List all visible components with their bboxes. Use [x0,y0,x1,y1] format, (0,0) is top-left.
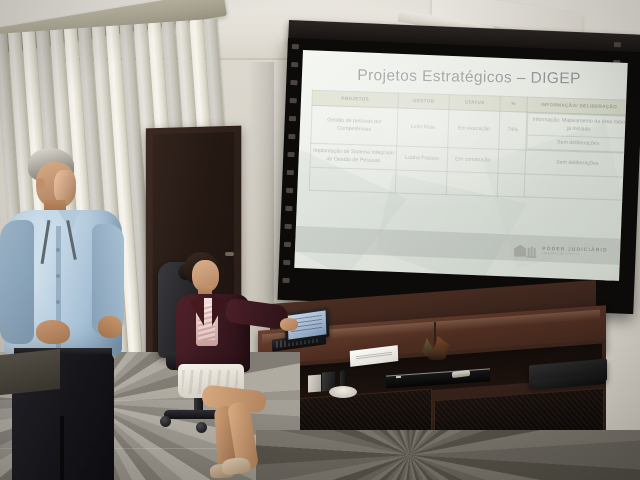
standing-presenter [0,148,140,480]
screen-tensioner-tab [285,224,292,229]
screen-tensioner-tab [614,42,621,47]
screen-tensioner-tab [287,152,294,157]
logo-subtitle: TRIBUNAL DE JUSTIÇA [542,253,608,257]
poder-judiciario-logo: PODER JUDICIÁRIO TRIBUNAL DE JUSTIÇA [513,243,608,259]
screen-tensioner-tab [286,188,293,193]
screen-tensioner-tab [291,62,298,67]
floor-right [256,430,640,480]
cell-status: Em execução [448,110,500,150]
shirt-button [56,248,60,252]
cell-projeto: Gestão de pessoas por Competências [311,105,398,146]
left-hand [36,320,70,344]
cell-informacao: Informação: Mapeamento da área meio já i… [526,112,628,153]
col-header-percent: % [500,96,527,112]
slide-title: Projetos Estratégicos – DIGEP [324,66,614,89]
cell-status: Em construção [447,148,499,173]
col-header-status: STATUS [449,95,500,112]
cell-percent: 74% [499,111,527,150]
seated-attendee [170,252,290,462]
screen-tensioner-tab [287,170,294,175]
shirt-button [56,300,60,304]
screen-tensioner-tab [290,80,297,85]
cell-gestor: Leila Maia [397,108,449,148]
cell-informacao: Sem deliberações [525,150,628,177]
left-arm [0,220,34,344]
microphone-base [329,386,357,398]
cell-projeto: Implantação de Sistema Integrado de Gest… [310,144,397,171]
screen-tensioner-tab [285,206,292,211]
cell-gestor: Luana Passos [396,146,448,171]
projects-table: PROJETOS GESTOR STATUS % INFORMAÇÃO/ DEL… [309,90,628,201]
face [54,170,76,204]
info-line: Informação: Mapeamento da área meio já i… [527,113,628,139]
col-header-gestor: GESTOR [398,93,449,110]
shirt-button [56,274,60,278]
projected-slide[interactable]: Projetos Estratégicos – DIGEP PROJETOS G… [294,50,627,281]
screen-tensioner-tab [289,116,296,121]
courthouse-columns-icon [513,243,539,258]
right-hand [98,316,122,338]
screen-tensioner-tab [288,134,295,139]
screen-tensioner-tab [292,44,299,49]
white-device-box [308,375,321,393]
right-hand [280,318,298,331]
decorative-ornament [418,322,452,360]
cell-percent [498,150,526,175]
screen-tensioner-tab [290,98,297,103]
screen-tensioner-tab [284,242,291,247]
dvd-player-led [396,376,401,378]
meeting-room-photo: Projetos Estratégicos – DIGEP PROJETOS G… [0,0,640,480]
trouser-leg-seam [60,416,64,480]
ear [36,178,45,190]
foreground-surface [0,349,60,395]
